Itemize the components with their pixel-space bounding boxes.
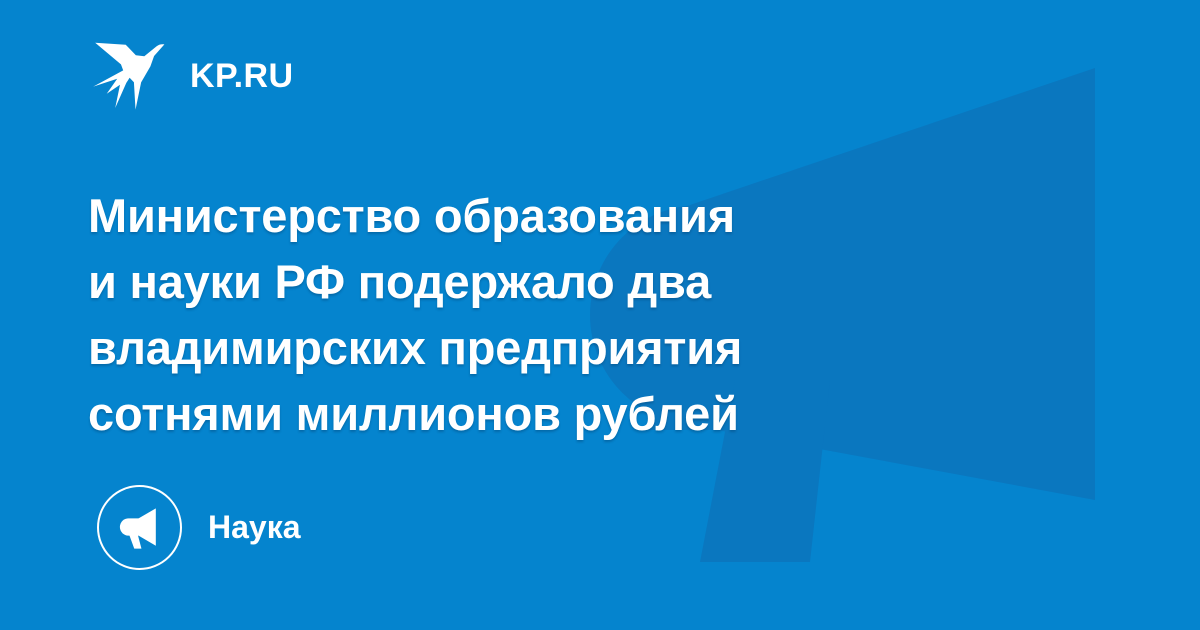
brand-header[interactable]: KP.RU [88,34,293,118]
category-label: Наука [208,511,301,543]
brand-wordmark: KP.RU [190,59,293,93]
headline-line-4: сотнями миллионов рублей [88,381,928,447]
headline: Министерство образования и науки РФ поде… [88,183,928,447]
category-badge[interactable]: Наука [97,484,301,570]
headline-line-1: Министерство образования [88,183,928,249]
headline-line-2: и науки РФ подержало два [88,249,928,315]
megaphone-icon [117,504,163,550]
swallow-bird-icon [88,36,168,116]
category-icon-circle [97,485,182,570]
headline-line-3: владимирских предприятия [88,315,928,381]
social-share-card: KP.RU Министерство образования и науки Р… [0,0,1200,630]
